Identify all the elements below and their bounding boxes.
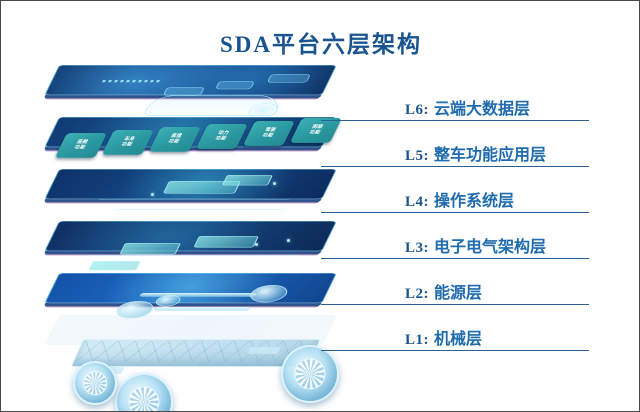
page-title: SDA平台六层架构 xyxy=(1,25,640,59)
layer-label-l2: L2:能源层 xyxy=(319,277,591,323)
sda-platform-architecture-figure: SDA平台六层架构 座舱 xyxy=(0,0,640,412)
rear-suspension-icon xyxy=(248,347,281,354)
layer-label-l4: L4:操作系统层 xyxy=(319,185,591,231)
rolling-chassis-illustration xyxy=(63,323,363,412)
layer-label-l1: L1:机械层 xyxy=(319,323,591,369)
wireframe-car-icon xyxy=(143,95,285,116)
layer-label-l6-text: L6:云端大数据层 xyxy=(405,95,530,119)
os-bus-line xyxy=(115,209,285,210)
chassis-lattice-pattern xyxy=(76,341,317,361)
slab-surface-l6 xyxy=(44,65,337,95)
layer-label-rule xyxy=(321,258,589,259)
layer-name-l2: 能源层 xyxy=(434,285,482,302)
layer-label-rule xyxy=(321,304,589,305)
layer-code-l3: L3: xyxy=(405,240,429,256)
layer-name-l6: 云端大数据层 xyxy=(434,101,530,118)
layer-label-l6: L6:云端大数据层 xyxy=(319,93,591,139)
layer-code-l1: L1: xyxy=(405,332,429,348)
slab-surface-l2 xyxy=(44,273,337,303)
layer-label-l3-text: L3:电子电气架构层 xyxy=(405,233,546,257)
layer-name-l5: 整车功能应用层 xyxy=(434,147,546,164)
layer-label-l2-text: L2:能源层 xyxy=(405,279,482,303)
layer-name-l1: 机械层 xyxy=(434,331,482,348)
layer-label-rule xyxy=(321,120,589,121)
layer-label-l4-text: L4:操作系统层 xyxy=(405,187,514,211)
layer-code-l6: L6: xyxy=(405,102,429,118)
layer-name-l4: 操作系统层 xyxy=(434,193,514,210)
front-wheel-icon xyxy=(115,373,173,412)
layer-code-l4: L4: xyxy=(405,194,429,210)
layer-code-l2: L2: xyxy=(405,286,429,302)
layer-label-l5: L5:整车功能应用层 xyxy=(319,139,591,185)
ee-bus-line xyxy=(89,255,299,256)
layer-label-l5-text: L5:整车功能应用层 xyxy=(405,141,546,165)
layer-label-rule xyxy=(321,166,589,167)
layer-label-rule xyxy=(321,350,589,351)
front-wheel-far-icon xyxy=(73,361,117,405)
slab-surface-l4 xyxy=(44,169,337,199)
drive-shaft-icon xyxy=(153,307,251,311)
ecu-module-icon xyxy=(88,261,141,270)
layer-label-l3: L3:电子电气架构层 xyxy=(319,231,591,277)
slab-surface-l3 xyxy=(44,221,337,251)
layer-code-l5: L5: xyxy=(405,148,429,164)
layer-label-list: L6:云端大数据层 L5:整车功能应用层 L4:操作系统层 L3:电子电气架构层 xyxy=(319,93,591,383)
layer-name-l3: 电子电气架构层 xyxy=(434,239,546,256)
layer-label-rule xyxy=(321,212,589,213)
slab-surface-l5 xyxy=(44,117,337,147)
layer-label-l1-text: L1:机械层 xyxy=(405,325,482,349)
